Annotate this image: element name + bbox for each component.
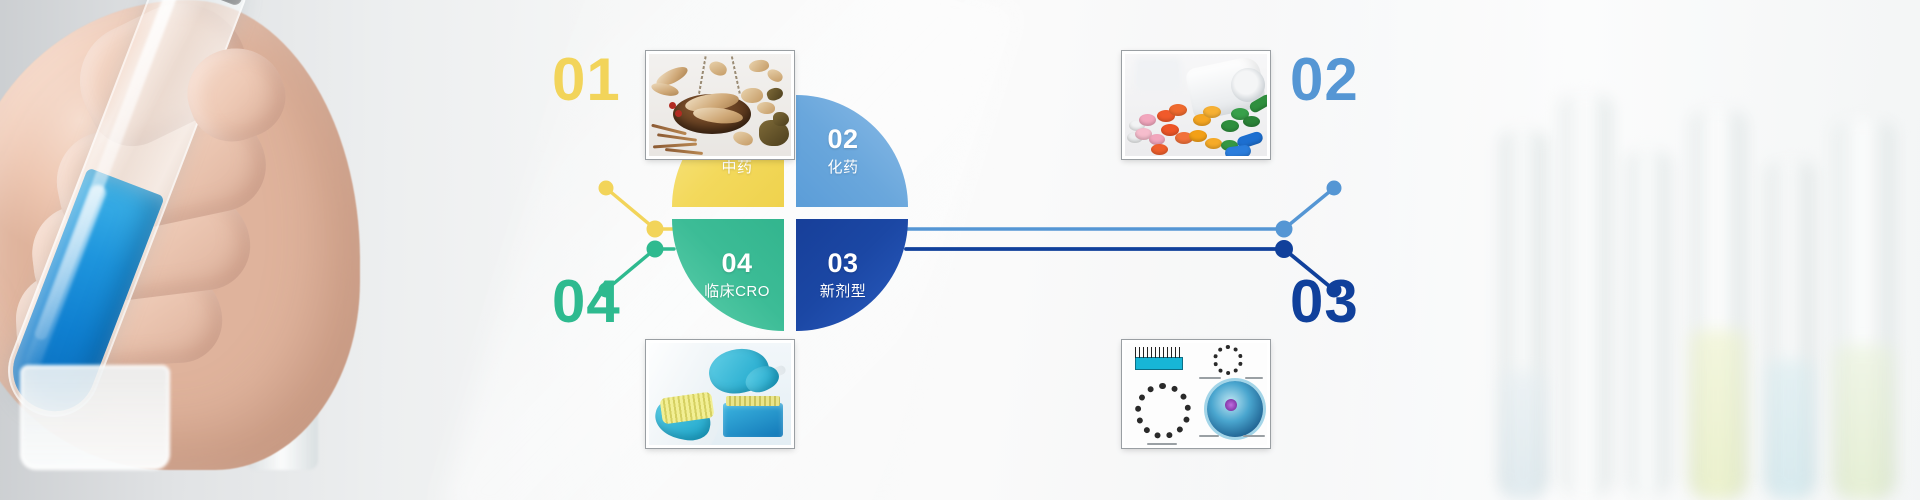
quadrant-04-linchuang-cro[interactable]: 04 临床CRO (672, 219, 784, 331)
quadrant-03-number: 03 (827, 249, 858, 277)
diagram-image (1125, 343, 1267, 445)
quadrant-02-number: 02 (827, 125, 858, 153)
quadrant-01-label: 中药 (721, 156, 752, 177)
pills-image (1125, 54, 1267, 156)
connector-02-end-dot (1327, 181, 1342, 196)
herbs-image (649, 54, 791, 156)
quadrant-02-label: 化药 (827, 156, 858, 177)
thumbnail-diagram[interactable] (1122, 340, 1270, 448)
connector-01-end-dot (599, 181, 614, 196)
outer-number-03: 03 (1290, 272, 1359, 332)
outer-number-02: 02 (1290, 50, 1359, 110)
quadrant-03-label: 新剂型 (820, 280, 867, 301)
connector-03-junction-dot (1275, 240, 1293, 258)
thumbnail-herbs[interactable] (646, 51, 794, 159)
outer-number-04: 04 (552, 272, 621, 332)
lab-image (649, 343, 791, 445)
connector-03 (906, 240, 1342, 298)
banner-stage: 01 中药 02 化药 04 临床CRO 03 新剂型 01 02 04 03 (0, 0, 1920, 500)
connector-lines (0, 0, 1920, 500)
quadrant-04-number: 04 (721, 249, 752, 277)
quadrant-04-label: 临床CRO (704, 280, 770, 301)
thumbnail-lab[interactable] (646, 340, 794, 448)
outer-number-01: 01 (552, 50, 621, 110)
infographic-layer: 01 中药 02 化药 04 临床CRO 03 新剂型 01 02 04 03 (0, 0, 1920, 500)
thumbnail-pills[interactable] (1122, 51, 1270, 159)
connector-02 (906, 181, 1342, 238)
quadrant-03-xinjixing[interactable]: 03 新剂型 (796, 219, 908, 331)
quadrant-02-huayao[interactable]: 02 化药 (796, 95, 908, 207)
connector-04-junction-dot (647, 241, 664, 258)
connector-02-junction-dot (1276, 221, 1293, 238)
